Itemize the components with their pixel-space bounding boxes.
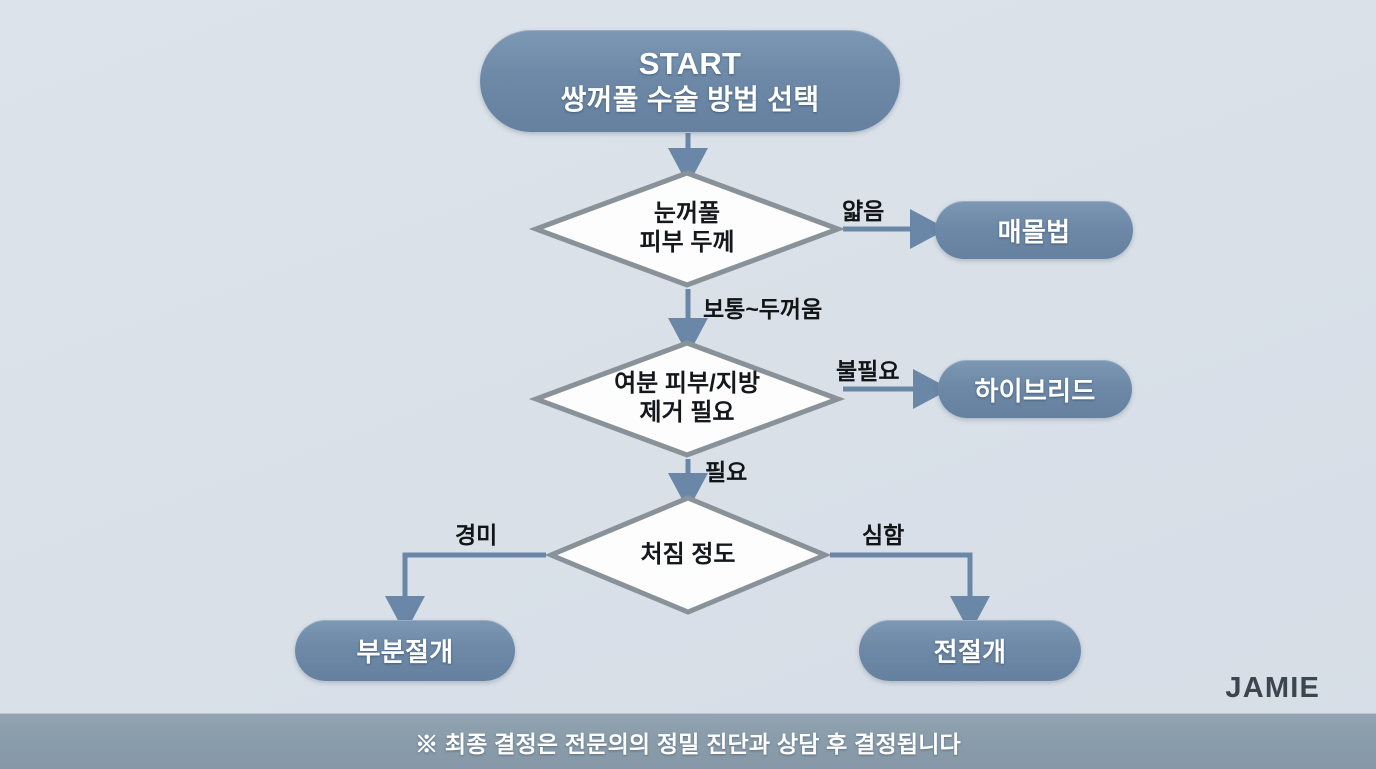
outcome-node-partial-incision[interactable]: 부분절개 bbox=[295, 620, 515, 681]
decision-excess-removal[interactable]: 여분 피부/지방 제거 필요 bbox=[533, 340, 841, 458]
decision-eyelid-thickness[interactable]: 눈꺼풀 피부 두께 bbox=[533, 170, 841, 288]
decision-eyelid-thickness-label: 눈꺼풀 피부 두께 bbox=[533, 170, 841, 288]
outcome-label: 하이브리드 bbox=[974, 371, 1095, 408]
decision-ptosis-degree[interactable]: 처짐 정도 bbox=[548, 495, 828, 615]
outcome-node-full-incision[interactable]: 전절개 bbox=[859, 620, 1081, 681]
connector-ptosis-to-partial bbox=[405, 555, 546, 612]
decision-line1: 여분 피부/지방 bbox=[614, 370, 760, 399]
start-node[interactable]: START 쌍꺼풀 수술 방법 선택 bbox=[480, 30, 900, 132]
outcome-label: 부분절개 bbox=[357, 632, 454, 669]
outcome-node-hybrid[interactable]: 하이브리드 bbox=[938, 360, 1132, 418]
edge-label-mild: 경미 bbox=[455, 516, 497, 550]
decision-ptosis-degree-label: 처짐 정도 bbox=[548, 495, 828, 615]
outcome-label: 매몰법 bbox=[998, 212, 1071, 249]
edge-label-severe: 심함 bbox=[862, 516, 904, 550]
connector-ptosis-to-full bbox=[830, 555, 970, 612]
decision-excess-removal-label: 여분 피부/지방 제거 필요 bbox=[533, 340, 841, 458]
outcome-label: 전절개 bbox=[934, 632, 1007, 669]
watermark: JAMIE bbox=[1225, 672, 1320, 705]
footer-note: ※ 최종 결정은 전문의의 정밀 진단과 상담 후 결정됩니다 bbox=[415, 725, 961, 759]
edge-label-needed: 필요 bbox=[705, 453, 747, 487]
edge-label-unneeded: 불필요 bbox=[836, 352, 899, 386]
decision-line2: 제거 필요 bbox=[640, 399, 735, 428]
start-node-line1: START bbox=[639, 47, 742, 82]
outcome-node-maemol[interactable]: 매몰법 bbox=[935, 201, 1133, 259]
edge-label-thin: 얇음 bbox=[842, 192, 884, 226]
flowchart-canvas: START 쌍꺼풀 수술 방법 선택 눈꺼풀 피부 두께 여분 피부/지방 제거… bbox=[0, 0, 1376, 768]
decision-line1: 눈꺼풀 bbox=[654, 200, 720, 229]
decision-line1: 처짐 정도 bbox=[641, 541, 736, 570]
decision-line2: 피부 두께 bbox=[640, 229, 735, 258]
start-node-line2: 쌍꺼풀 수술 방법 선택 bbox=[561, 84, 820, 115]
footer-bar: ※ 최종 결정은 전문의의 정밀 진단과 상담 후 결정됩니다 bbox=[0, 713, 1376, 769]
edge-label-normal-to-thick: 보통~두꺼움 bbox=[703, 290, 822, 324]
